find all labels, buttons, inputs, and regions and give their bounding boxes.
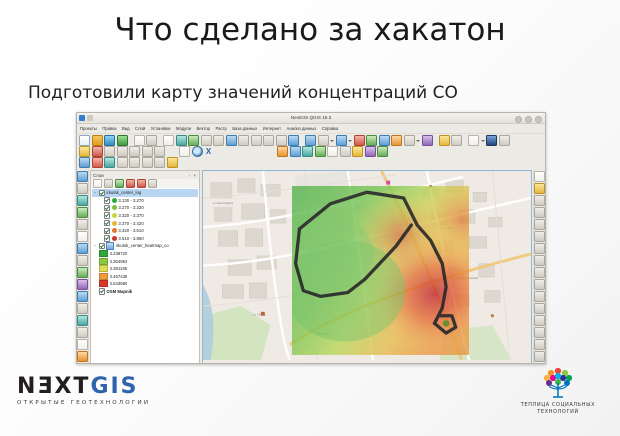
layers-panel-toolbar (91, 179, 199, 188)
toggle-editing-icon[interactable] (92, 146, 103, 157)
raster-ramp-row: 3.391195 (92, 265, 198, 273)
layer-styling-icon[interactable] (77, 327, 88, 338)
delete-feature-icon[interactable] (534, 255, 545, 266)
class-label: 3.510 - 3.860 (118, 236, 143, 241)
layer-item-irkutsk-center-log[interactable]: − irkutsk_center_log (92, 189, 198, 197)
layer-item-osm-mapnik[interactable]: OSM Mapnik (92, 288, 198, 296)
save-project-as-icon[interactable] (117, 135, 128, 146)
raster-ramp-row: 3.467438 (92, 273, 198, 281)
teplica-tree-icon (536, 366, 580, 400)
add-delimited-text-icon[interactable] (77, 231, 88, 242)
menu-item-help[interactable]: Справка (322, 126, 338, 131)
add-oracle-layer-icon[interactable] (77, 291, 88, 302)
reshape-features-icon[interactable] (534, 363, 545, 364)
add-part-icon[interactable] (534, 351, 545, 362)
class-label: 3.370 - 3.420 (118, 221, 143, 226)
zoom-last-icon[interactable] (263, 135, 274, 146)
help-contents-icon[interactable] (499, 135, 510, 146)
class-label: 3.270 - 3.320 (118, 205, 143, 210)
bookmark-icon[interactable] (439, 135, 450, 146)
menu-item-edit[interactable]: Правка (102, 126, 116, 131)
redo-icon[interactable] (534, 315, 545, 326)
add-vector-layer-icon[interactable] (77, 171, 88, 182)
layer-name: irkutsk_center_log (106, 190, 141, 195)
raster-layer-icon (106, 242, 114, 250)
menu-item-project[interactable]: Проекты (80, 126, 97, 131)
class-visibility-checkbox[interactable] (104, 235, 110, 241)
new-shapefile-layer-icon[interactable] (167, 157, 178, 168)
ramp-value: 3.238720 (110, 251, 128, 256)
add-spatialite-layer-icon[interactable] (77, 267, 88, 278)
close-plugin-icon[interactable]: X (204, 147, 213, 156)
window-title: NextGIS QGIS 15.3 (77, 113, 545, 123)
measure-line-icon[interactable] (366, 135, 377, 146)
add-wcs-layer-icon[interactable] (77, 219, 88, 230)
layer-tree[interactable]: − irkutsk_center_log 3.130 - 3.270 3.270… (91, 188, 199, 363)
copy-features-icon[interactable] (534, 279, 545, 290)
node-tool-icon[interactable] (142, 146, 153, 157)
open-layer-styling-icon[interactable] (93, 179, 102, 188)
add-wms-layer-icon[interactable] (77, 207, 88, 218)
minimize-button[interactable] (515, 116, 522, 123)
chevron-down-icon[interactable] (481, 136, 485, 145)
logo-letter-t: T (73, 374, 90, 399)
legend-class-row: 3.510 - 3.860 (92, 235, 198, 243)
layers-panel-controls[interactable]: ◦ × (189, 173, 197, 178)
map-canvas[interactable]: ул. Карла Маркса ул. Ленина ул. Седова п… (202, 170, 532, 364)
menu-item-layer[interactable]: Слой (135, 126, 145, 131)
move-feature-icon[interactable] (534, 243, 545, 254)
maximize-button[interactable] (525, 116, 532, 123)
composer-manager-icon[interactable] (146, 135, 157, 146)
window-controls[interactable] (515, 116, 542, 123)
menu-item-vector[interactable]: Вектор (196, 126, 210, 131)
zoom-selection-icon[interactable] (226, 135, 237, 146)
panel-float-icon[interactable]: ◦ (189, 173, 192, 178)
open-attribute-table-icon[interactable] (336, 135, 347, 146)
attribute-form-icon[interactable] (179, 146, 190, 157)
add-gpx-layer-icon[interactable] (77, 255, 88, 266)
field-calculator-icon[interactable] (391, 135, 402, 146)
nextgis-tagline: ОТКРЫТЫЕ ГЕОТЕХНОЛОГИИ (17, 400, 150, 406)
expand-spacer (93, 290, 97, 294)
nextgis-wordmark: NƎXTGIS (17, 376, 150, 398)
save-project-icon[interactable] (104, 135, 115, 146)
add-postgis-layer-icon[interactable] (104, 157, 115, 168)
logo-letters-gis: GIS (90, 374, 138, 399)
add-wms-layer-icon[interactable] (142, 157, 153, 168)
legend-class-row: 3.130 - 3.270 (92, 197, 198, 205)
zoom-next-icon[interactable] (276, 135, 287, 146)
ramp-swatch (99, 273, 108, 280)
layer-item-irkutsk-center-heatmap-co[interactable]: − irkutsk_center_heatmap_co (92, 242, 198, 250)
ramp-swatch (99, 265, 108, 272)
python-console-icon[interactable] (486, 135, 497, 146)
legend-class-row: 3.370 - 3.420 (92, 219, 198, 227)
menu-item-view[interactable]: Вид (122, 126, 130, 131)
slide: Что сделано за хакатон Подготовили карту… (0, 0, 620, 436)
ramp-value: 3.467438 (110, 274, 128, 279)
add-db-layer-icon[interactable] (77, 195, 88, 206)
pan-to-selection-icon[interactable] (176, 135, 187, 146)
layer-name: OSM Mapnik (106, 289, 132, 294)
new-bookmark-icon[interactable] (451, 135, 462, 146)
add-raster-layer-icon[interactable] (92, 157, 103, 168)
zoom-full-icon[interactable] (213, 135, 224, 146)
toolbar-separator (464, 136, 467, 145)
processing-toolbox-icon[interactable] (365, 146, 376, 157)
class-visibility-checkbox[interactable] (104, 212, 110, 218)
text-annotation-icon[interactable] (468, 135, 479, 146)
map-tips-icon[interactable] (422, 135, 433, 146)
paste-features-icon[interactable] (534, 291, 545, 302)
raster-ramp-row: 3.304953 (92, 257, 198, 265)
add-raster-layer-icon[interactable] (77, 183, 88, 194)
panel-close-icon[interactable]: × (193, 173, 197, 178)
toolbar-separator (434, 136, 437, 145)
window-titlebar: NextGIS QGIS 15.3 (77, 113, 545, 124)
move-feature-icon[interactable] (129, 146, 140, 157)
chevron-down-icon[interactable] (416, 136, 420, 145)
ramp-swatch (99, 250, 108, 257)
gps-tools-icon[interactable] (77, 351, 88, 362)
pan-map-icon[interactable] (163, 135, 174, 146)
qms-icon[interactable] (290, 146, 301, 157)
toggle-editing-icon[interactable] (534, 183, 545, 194)
class-symbol (112, 198, 117, 203)
add-mssql-layer-icon[interactable] (77, 279, 88, 290)
open-project-icon[interactable] (92, 135, 103, 146)
toolbar-row-3 (79, 157, 543, 168)
new-memory-layer-icon[interactable] (77, 243, 88, 254)
chevron-down-icon[interactable] (348, 136, 352, 145)
class-symbol (112, 213, 117, 218)
toolbar-separator (301, 136, 304, 145)
openlayers-icon[interactable] (302, 146, 313, 157)
menu-item-plugins[interactable]: Модули (176, 126, 191, 131)
collapse-all-icon[interactable] (137, 179, 146, 188)
export-icon[interactable] (340, 146, 351, 157)
remove-layer-icon[interactable] (148, 179, 157, 188)
add-polygon-feature-icon[interactable] (534, 231, 545, 242)
raster-ramp-row: 3.543680 (92, 280, 198, 288)
add-group-icon[interactable] (104, 179, 113, 188)
chevron-down-icon[interactable] (330, 136, 334, 145)
class-symbol (112, 236, 117, 241)
add-arcgis-layer-icon[interactable] (77, 315, 88, 326)
zoom-out-icon[interactable] (201, 135, 212, 146)
toolbar-row-2: X (79, 146, 543, 157)
close-button[interactable] (535, 116, 542, 123)
nextgis-logo: NƎXTGIS ОТКРЫТЫЕ ГЕОТЕХНОЛОГИИ (17, 376, 150, 406)
layer-visibility-checkbox[interactable] (99, 243, 105, 249)
new-print-composer-icon[interactable] (134, 135, 145, 146)
add-line-feature-icon[interactable] (534, 219, 545, 230)
attribute-table-icon[interactable] (379, 135, 390, 146)
nextgis-connect-icon[interactable] (277, 146, 288, 157)
add-delimited-text-icon[interactable] (129, 157, 140, 168)
layer-visibility-checkbox[interactable] (99, 288, 105, 294)
menu-item-analysis[interactable]: Анализ данных (287, 126, 317, 131)
teplica-tagline-line1: ТЕПЛИЦА СОЦИАЛЬНЫХ (510, 402, 606, 409)
menu-item-raster[interactable]: Растр (215, 126, 226, 131)
quickmapservices-icon[interactable] (315, 146, 326, 157)
current-edits-icon[interactable] (79, 146, 90, 157)
menu-item-web[interactable]: Интернет (263, 126, 281, 131)
add-vector-layer-icon[interactable] (79, 157, 90, 168)
layers-panel: Слои ◦ × − (90, 170, 200, 364)
add-ring-icon[interactable] (534, 339, 545, 350)
layer-visibility-checkbox[interactable] (99, 190, 105, 196)
class-label: 3.320 - 3.370 (118, 213, 143, 218)
ramp-swatch (99, 280, 108, 287)
ramp-value: 3.304953 (110, 259, 128, 264)
undo-icon[interactable] (534, 303, 545, 314)
save-layer-edits-icon[interactable] (104, 146, 115, 157)
add-point-feature-icon[interactable] (534, 207, 545, 218)
class-symbol (112, 221, 117, 226)
zoom-layer-icon[interactable] (238, 135, 249, 146)
plugin-panel-icon[interactable] (327, 146, 338, 157)
teplica-logo: ТЕПЛИЦА СОЦИАЛЬНЫХ ТЕХНОЛОГИЙ (510, 366, 606, 416)
new-project-icon[interactable] (79, 135, 90, 146)
class-symbol (112, 205, 117, 210)
right-vertical-toolbar (533, 169, 545, 364)
layers-panel-header: Слои ◦ × (91, 171, 199, 179)
expand-all-icon[interactable] (126, 179, 135, 188)
teplica-tagline-line2: ТЕХНОЛОГИЙ (510, 409, 606, 416)
class-label: 3.130 - 3.270 (118, 198, 143, 203)
logo-letter-x: X (54, 374, 73, 399)
delete-selected-icon[interactable] (154, 146, 165, 157)
browser-panel-icon[interactable] (77, 339, 88, 350)
slide-subtitle: Подготовили карту значений концентраций … (28, 83, 588, 103)
legend-class-row: 3.320 - 3.370 (92, 212, 198, 220)
class-visibility-checkbox[interactable] (104, 197, 110, 203)
toolbar-separator (129, 136, 132, 145)
raster-ramp-row: 3.238720 (92, 250, 198, 258)
class-symbol (112, 228, 117, 233)
filter-legend-icon[interactable] (115, 179, 124, 188)
georeferencer-icon[interactable] (352, 146, 363, 157)
class-visibility-checkbox[interactable] (104, 220, 110, 226)
ramp-value: 3.391195 (110, 266, 128, 271)
identify-features-icon[interactable] (305, 135, 316, 146)
deselect-features-icon[interactable] (354, 135, 365, 146)
simplify-feature-icon[interactable] (534, 327, 545, 338)
statistics-icon[interactable] (404, 135, 415, 146)
logo-letter-n: N (17, 374, 37, 399)
cut-features-icon[interactable] (534, 267, 545, 278)
left-vertical-toolbar (77, 169, 89, 364)
class-visibility-checkbox[interactable] (104, 228, 110, 234)
add-wfs-layer-icon[interactable] (154, 157, 165, 168)
gps-track-overlay (203, 171, 531, 360)
toolbar-area: X (77, 134, 545, 169)
add-virtual-layer-icon[interactable] (77, 303, 88, 314)
layers-panel-title: Слои (93, 173, 104, 178)
class-visibility-checkbox[interactable] (104, 205, 110, 211)
add-spatialite-layer-icon[interactable] (117, 157, 128, 168)
ramp-value: 3.543680 (110, 281, 128, 286)
heatmap-plugin-icon[interactable] (377, 146, 388, 157)
refresh-icon[interactable] (288, 135, 299, 146)
ramp-swatch (99, 258, 108, 265)
toolbar-separator (159, 136, 162, 145)
logo-letter-e: Ǝ (37, 374, 54, 399)
legend-class-row: 3.420 - 3.510 (92, 227, 198, 235)
window-body: Слои ◦ × − (77, 169, 545, 364)
digitize-toolbar-icon[interactable] (534, 171, 545, 182)
qgis-window: NextGIS QGIS 15.3 Проекты Правка Вид Сло… (76, 112, 546, 364)
legend-class-row: 3.270 - 3.320 (92, 204, 198, 212)
layer-name: irkutsk_center_heatmap_co (116, 243, 169, 248)
zoom-in-icon[interactable] (188, 135, 199, 146)
expand-icon[interactable]: − (93, 244, 97, 248)
search-icon[interactable] (192, 146, 203, 157)
menu-bar[interactable]: Проекты Правка Вид Слой Установки Модули… (77, 124, 545, 134)
save-edits-icon[interactable] (534, 195, 545, 206)
menu-item-database[interactable]: База данных (232, 126, 257, 131)
select-features-icon[interactable] (318, 135, 329, 146)
toolbar-row-1 (79, 135, 543, 146)
add-feature-icon[interactable] (117, 146, 128, 157)
page-title: Что сделано за хакатон (0, 12, 620, 48)
menu-item-settings[interactable]: Установки (151, 126, 171, 131)
zoom-native-icon[interactable] (251, 135, 262, 146)
expand-icon[interactable]: − (93, 191, 97, 195)
class-label: 3.420 - 3.510 (118, 228, 143, 233)
